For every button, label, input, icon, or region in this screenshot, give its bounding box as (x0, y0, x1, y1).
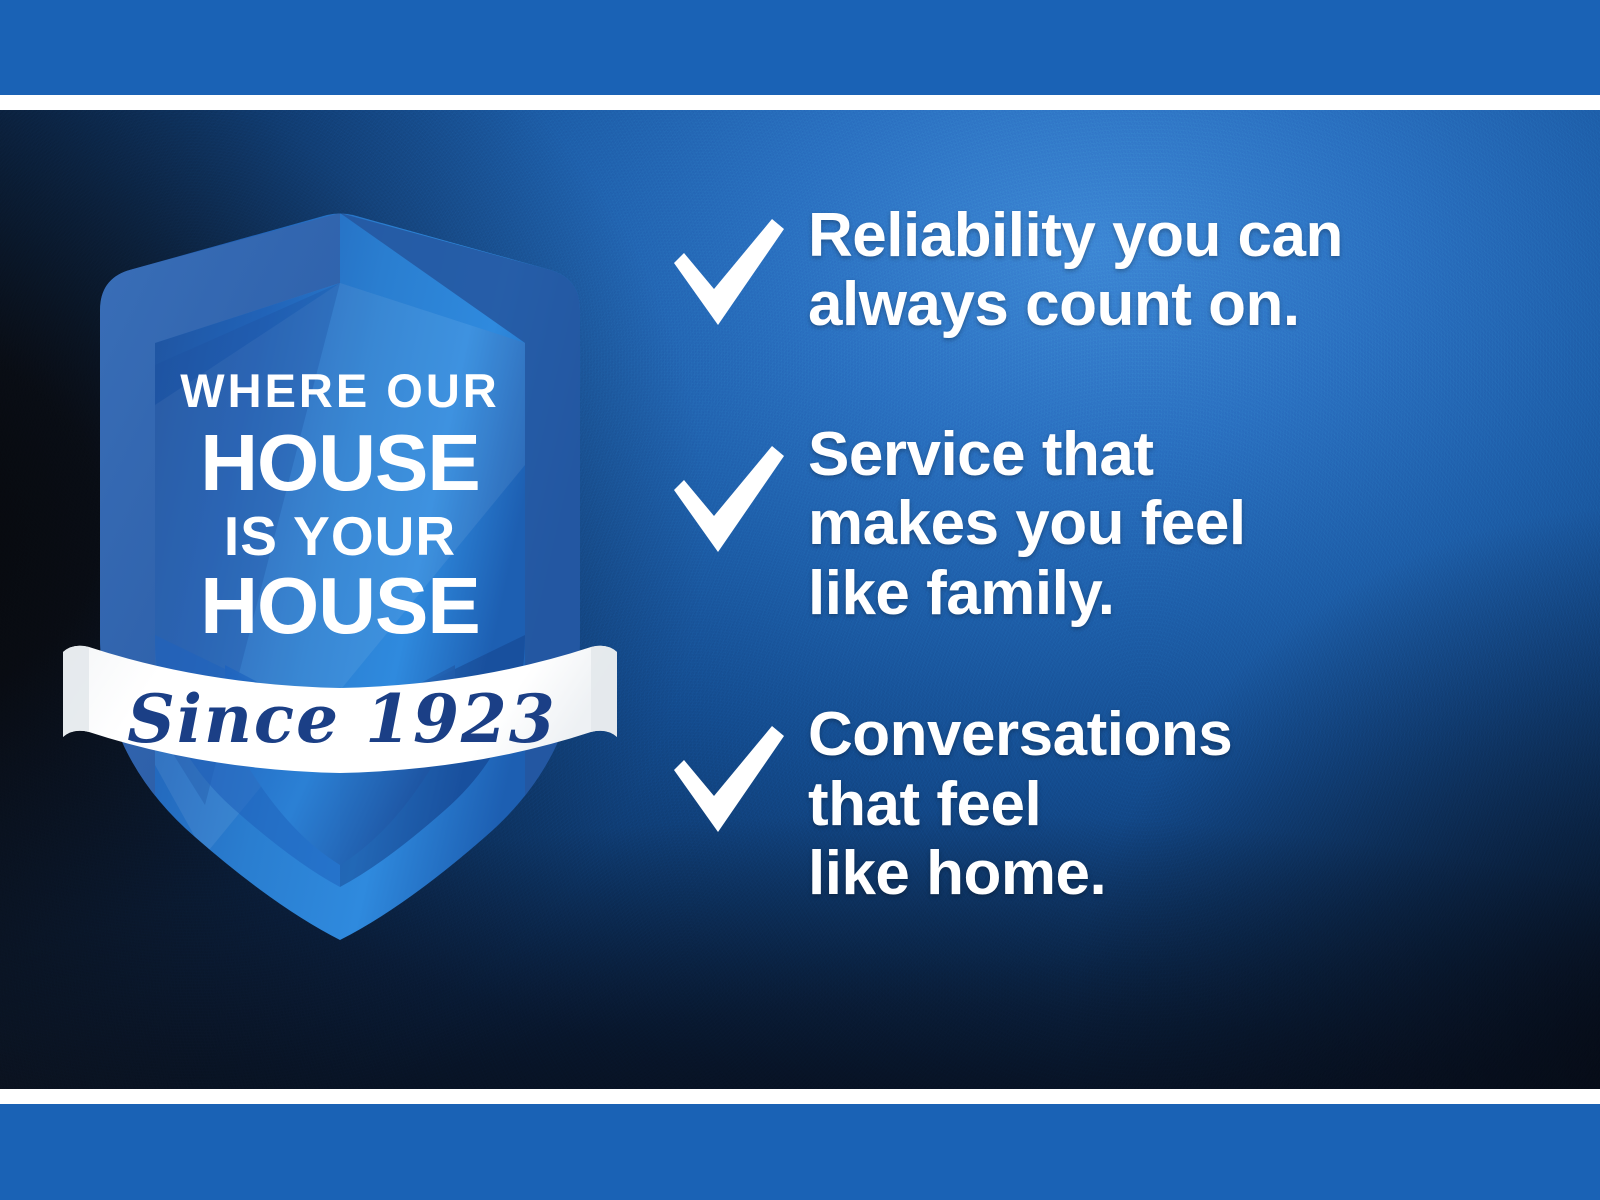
check-icon (668, 217, 788, 329)
shield-body (100, 213, 580, 940)
since-year-text: Since 1923 (127, 680, 557, 758)
benefit-text: Conversations that feel like home. (808, 700, 1232, 908)
benefit-item: Reliability you can always count on. (668, 193, 1548, 340)
top-white-rule (0, 95, 1600, 110)
benefits-list: Reliability you can always count on. Ser… (668, 165, 1548, 1065)
bottom-brand-bar (0, 1104, 1600, 1200)
top-brand-bar (0, 0, 1600, 95)
benefit-text: Reliability you can always count on. (808, 201, 1343, 340)
check-icon (668, 444, 788, 556)
shield-emblem: WHERE OUR HOUSE IS YOUR HOUSE Since 1923 (55, 165, 625, 965)
check-icon (668, 724, 788, 836)
benefit-item: Service that makes you feel like family. (668, 420, 1548, 628)
promo-poster: WHERE OUR HOUSE IS YOUR HOUSE Since 1923… (0, 0, 1600, 1200)
bottom-white-rule (0, 1089, 1600, 1104)
benefit-item: Conversations that feel like home. (668, 700, 1548, 908)
benefit-text: Service that makes you feel like family. (808, 420, 1246, 628)
